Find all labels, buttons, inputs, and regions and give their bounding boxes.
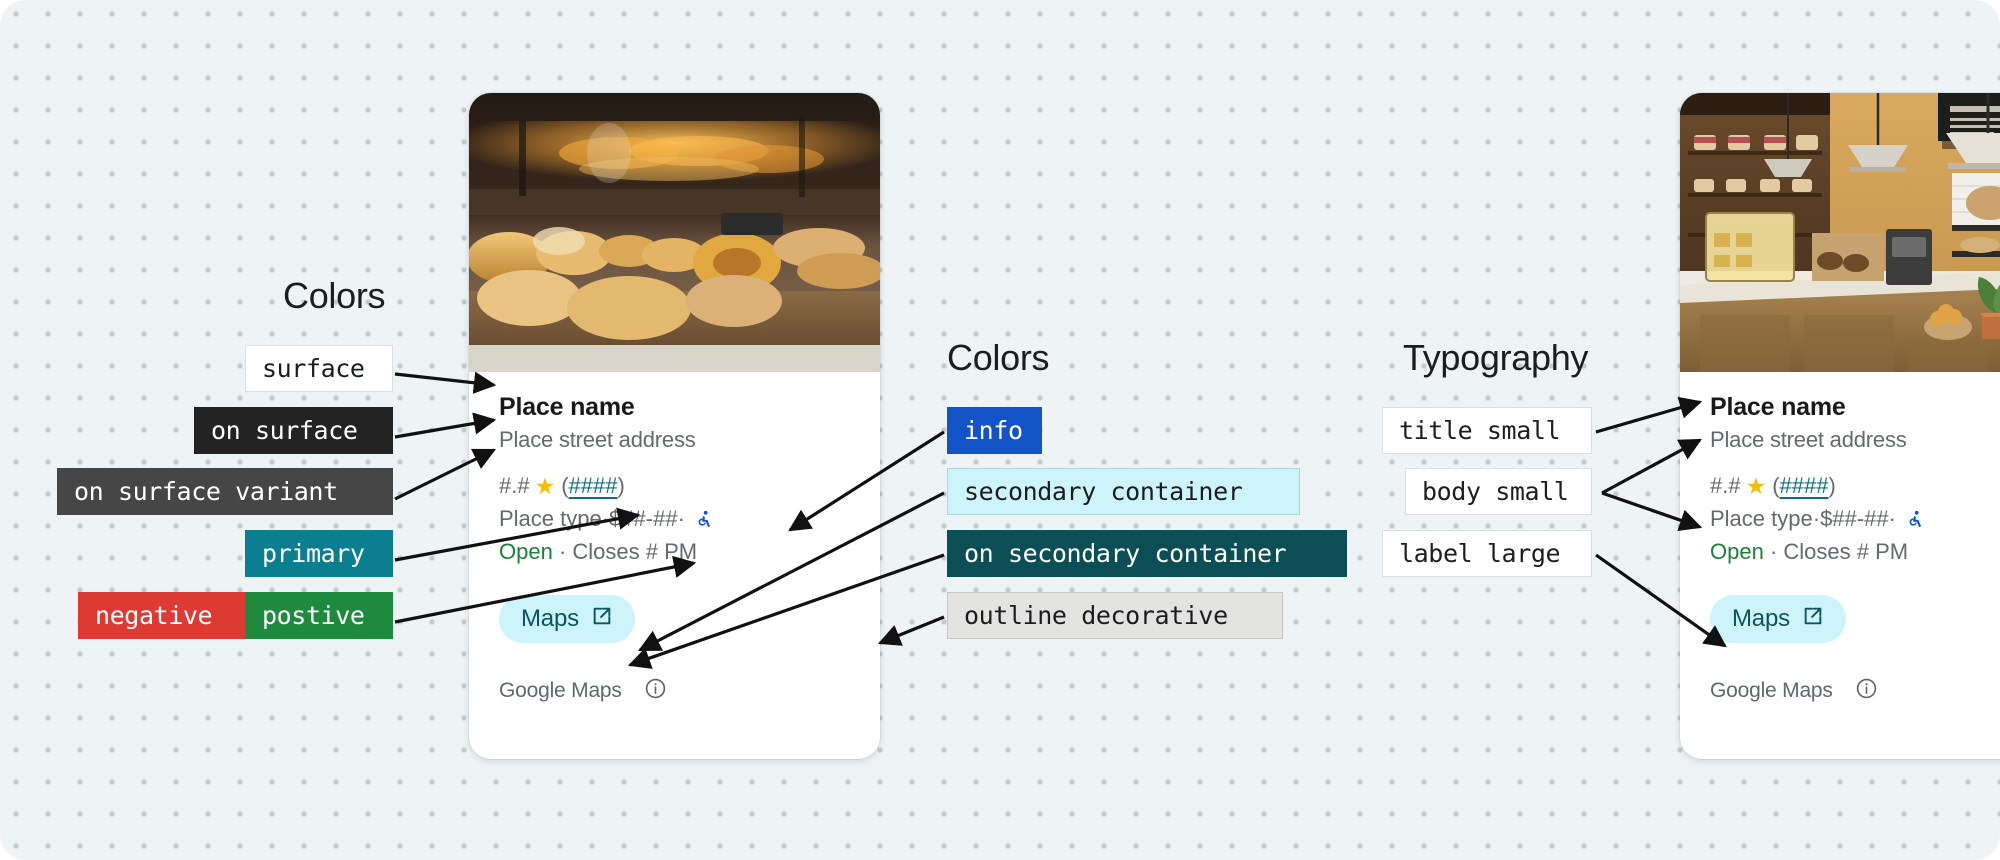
open-in-new-icon bbox=[1802, 605, 1824, 634]
token-chip-surface[interactable]: surface bbox=[245, 345, 393, 392]
closing-time: · Closes # PM bbox=[1764, 539, 1908, 564]
separator-dot: · bbox=[1889, 506, 1896, 532]
place-name: Place name bbox=[499, 393, 850, 422]
place-photo-bakery bbox=[469, 93, 880, 372]
review-count-link[interactable]: #### bbox=[1780, 473, 1829, 499]
place-card-body: Place name Place street address #.# ★ ( … bbox=[469, 393, 880, 643]
separator-dot: · bbox=[602, 506, 609, 532]
token-chip-label: postive bbox=[262, 601, 365, 630]
place-name: Place name bbox=[1710, 393, 2000, 422]
review-close-paren: ) bbox=[1829, 473, 1836, 499]
review-open-paren: ( bbox=[561, 473, 568, 499]
token-chip-label: body small bbox=[1422, 477, 1569, 506]
open-status: Open bbox=[1710, 539, 1764, 564]
maps-button-label: Maps bbox=[521, 605, 579, 633]
review-count-link[interactable]: #### bbox=[569, 473, 618, 499]
token-chip-outline-decorative[interactable]: outline decorative bbox=[947, 592, 1283, 639]
section-title-colors-left: Colors bbox=[283, 275, 385, 317]
token-chip-on-surface[interactable]: on surface bbox=[194, 407, 393, 454]
section-title-typography: Typography bbox=[1403, 337, 1588, 379]
token-chip-primary[interactable]: primary bbox=[245, 530, 393, 577]
maps-button[interactable]: Maps bbox=[499, 595, 635, 643]
token-chip-negative[interactable]: negative bbox=[78, 592, 245, 639]
place-type-row: Place type · $##-## · bbox=[1710, 506, 2000, 532]
place-type: Place type bbox=[499, 506, 602, 532]
place-card-left[interactable]: Place name Place street address #.# ★ ( … bbox=[469, 93, 880, 759]
separator-dot: · bbox=[678, 506, 685, 532]
wheelchair-accessible-icon bbox=[1906, 509, 1925, 530]
info-circle-icon[interactable] bbox=[1855, 677, 1878, 705]
token-chip-body-small[interactable]: body small bbox=[1405, 468, 1592, 515]
token-chip-label: on surface bbox=[211, 416, 358, 445]
token-chip-title-small[interactable]: title small bbox=[1382, 407, 1592, 454]
wheelchair-accessible-icon bbox=[695, 509, 714, 530]
maps-button-label: Maps bbox=[1732, 605, 1790, 633]
place-card-body: Place name Place street address #.# ★ ( … bbox=[1680, 393, 2000, 643]
token-chip-on-surface-variant[interactable]: on surface variant bbox=[57, 468, 393, 515]
price-range: $##-## bbox=[1820, 506, 1889, 532]
rating-row: #.# ★ ( #### ) bbox=[1710, 473, 2000, 499]
place-card-right[interactable]: Place name Place street address #.# ★ ( … bbox=[1680, 93, 2000, 759]
star-icon: ★ bbox=[1746, 475, 1767, 498]
separator-dot: · bbox=[1813, 506, 1820, 532]
open-status-row: Open · Closes # PM bbox=[1710, 539, 2000, 565]
place-address: Place street address bbox=[499, 427, 850, 453]
rating-value: #.# bbox=[499, 473, 530, 499]
token-chip-label: secondary container bbox=[964, 477, 1242, 506]
google-maps-attribution: Google Maps bbox=[1710, 679, 1833, 703]
arrow-outline-decorative bbox=[880, 617, 944, 643]
token-chip-postive[interactable]: postive bbox=[245, 592, 393, 639]
token-chip-label: on surface variant bbox=[74, 477, 338, 506]
token-chip-label: on secondary container bbox=[964, 539, 1286, 568]
token-chip-label: surface bbox=[262, 354, 365, 383]
token-chip-label: title small bbox=[1399, 416, 1560, 445]
token-chip-info[interactable]: info bbox=[947, 407, 1042, 454]
token-chip-on-secondary-container[interactable]: on secondary container bbox=[947, 530, 1347, 577]
rating-row: #.# ★ ( #### ) bbox=[499, 473, 850, 499]
open-status-row: Open · Closes # PM bbox=[499, 539, 850, 565]
open-in-new-icon bbox=[591, 605, 613, 634]
google-maps-attribution: Google Maps bbox=[499, 679, 622, 703]
canvas-stage: Colors Colors Typography surface on surf… bbox=[0, 0, 2000, 860]
place-type: Place type bbox=[1710, 506, 1813, 532]
maps-button[interactable]: Maps bbox=[1710, 595, 1846, 643]
place-address: Place street address bbox=[1710, 427, 2000, 453]
rating-value: #.# bbox=[1710, 473, 1741, 499]
review-open-paren: ( bbox=[1772, 473, 1779, 499]
token-chip-label: primary bbox=[262, 539, 365, 568]
token-chip-label: label large bbox=[1399, 539, 1560, 568]
card-footer: Google Maps bbox=[1680, 677, 2000, 705]
star-icon: ★ bbox=[535, 475, 556, 498]
price-range: $##-## bbox=[609, 506, 678, 532]
place-type-row: Place type · $##-## · bbox=[499, 506, 850, 532]
section-title-colors-mid: Colors bbox=[947, 337, 1049, 379]
closing-time: · Closes # PM bbox=[553, 539, 697, 564]
token-chip-label-large[interactable]: label large bbox=[1382, 530, 1592, 577]
info-circle-icon[interactable] bbox=[644, 677, 667, 705]
place-photo-cafe bbox=[1680, 93, 2000, 372]
token-chip-label: outline decorative bbox=[964, 601, 1228, 630]
token-chip-secondary-container[interactable]: secondary container bbox=[947, 468, 1300, 515]
token-chip-label: info bbox=[964, 416, 1023, 445]
token-chip-label: negative bbox=[95, 601, 212, 630]
review-close-paren: ) bbox=[618, 473, 625, 499]
open-status: Open bbox=[499, 539, 553, 564]
card-footer: Google Maps bbox=[469, 677, 880, 705]
